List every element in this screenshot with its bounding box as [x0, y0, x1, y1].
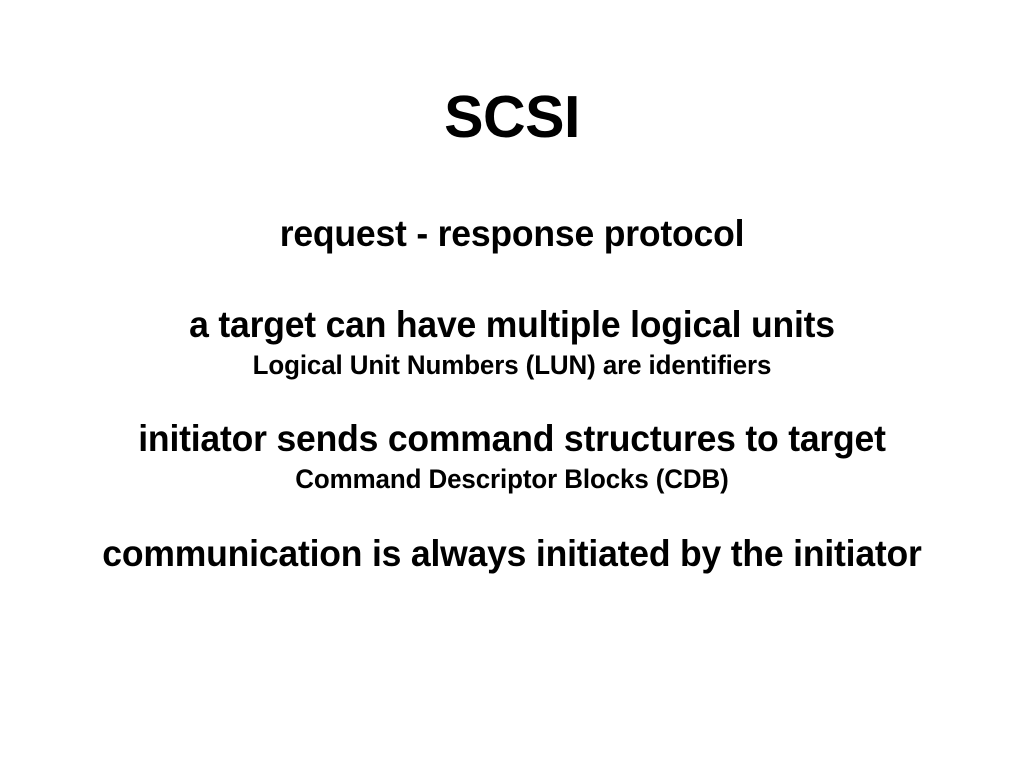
- slide-line-communication-initiated-by-initiator: communication is always initiated by the…: [0, 535, 1024, 572]
- presentation-slide: SCSI request - response protocol a targe…: [0, 0, 1024, 768]
- slide-title: SCSI: [0, 88, 1024, 147]
- slide-line-target-logical-units: a target can have multiple logical units: [0, 306, 1024, 343]
- slide-line-text: a target can have multiple logical units: [20, 306, 1003, 343]
- slide-subline-text: Command Descriptor Blocks (CDB): [20, 466, 1003, 493]
- slide-line-initiator-sends-commands: initiator sends command structures to ta…: [0, 420, 1024, 457]
- slide-line-request-response-protocol: request - response protocol: [0, 215, 1024, 252]
- slide-line-text: communication is always initiated by the…: [20, 535, 1003, 572]
- slide-subline-text: Logical Unit Numbers (LUN) are identifie…: [20, 352, 1003, 379]
- slide-line-text: request - response protocol: [20, 215, 1003, 252]
- slide-subline-logical-unit-numbers: Logical Unit Numbers (LUN) are identifie…: [0, 352, 1024, 379]
- slide-subline-command-descriptor-blocks: Command Descriptor Blocks (CDB): [0, 466, 1024, 493]
- slide-line-text: initiator sends command structures to ta…: [20, 420, 1003, 457]
